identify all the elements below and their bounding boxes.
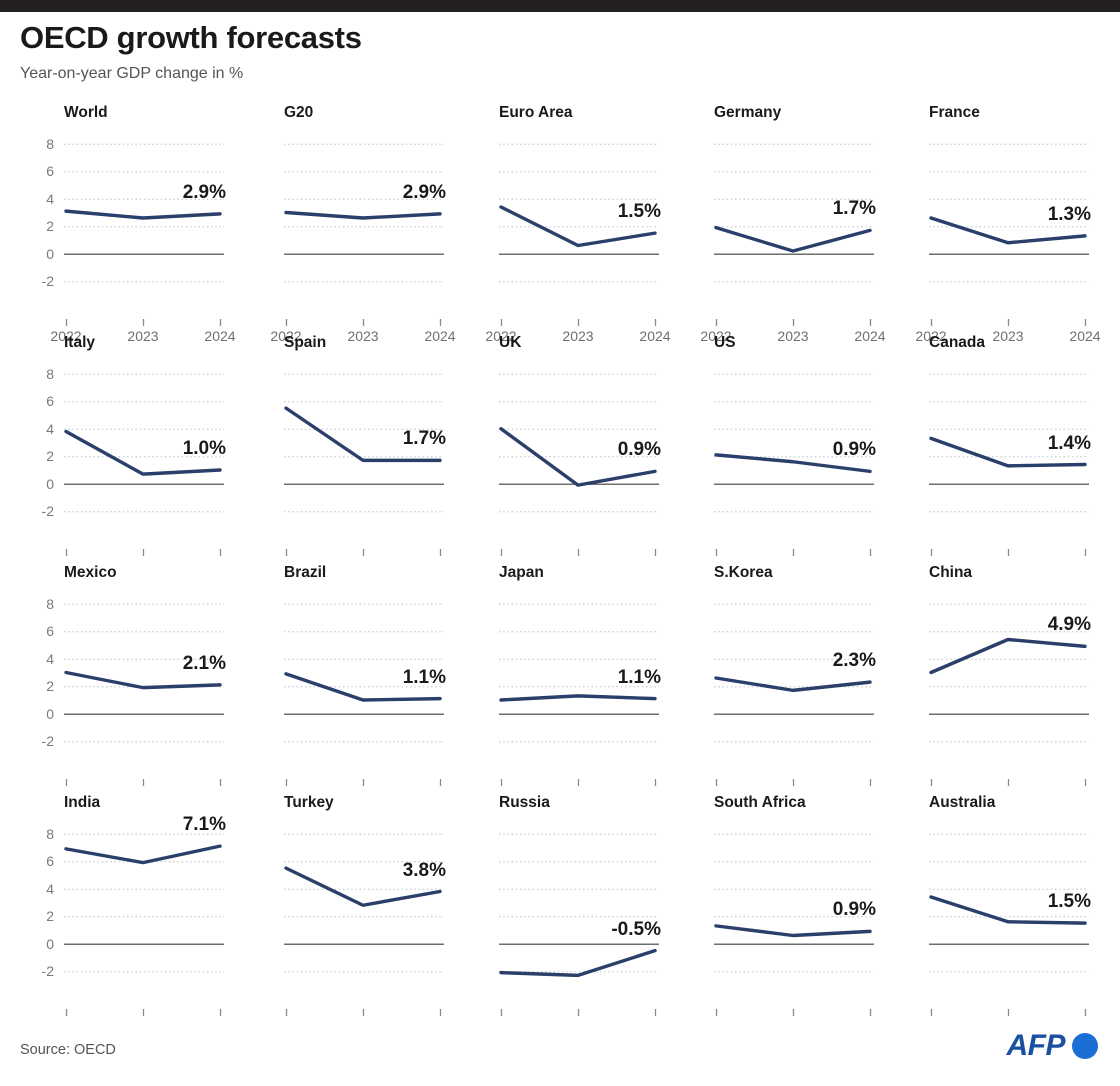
data-line bbox=[66, 673, 220, 688]
panel-plot bbox=[499, 130, 661, 329]
panel-value-label: 1.5% bbox=[1015, 892, 1091, 912]
panel-title: Spain bbox=[284, 334, 326, 352]
panel-title: Germany bbox=[714, 104, 781, 122]
y-axis-tick-label: 4 bbox=[28, 192, 54, 206]
afp-logo: AFP bbox=[1007, 1030, 1099, 1062]
chart-row: World2.9%86420-2202220232024G202.9%20222… bbox=[0, 104, 1120, 334]
data-line bbox=[66, 846, 220, 863]
panel-value-label: 0.9% bbox=[800, 900, 876, 920]
data-line bbox=[501, 696, 655, 700]
panel-value-label: 1.5% bbox=[585, 202, 661, 222]
panel-value-label: 1.1% bbox=[585, 668, 661, 688]
panel-plot bbox=[64, 130, 226, 329]
panel-plot bbox=[64, 820, 226, 1019]
y-axis-tick-label: 0 bbox=[28, 247, 54, 261]
panel-title: South Africa bbox=[714, 794, 806, 812]
panel-value-label: 2.1% bbox=[150, 654, 226, 674]
y-axis-tick-label: 0 bbox=[28, 477, 54, 491]
panel-title: UK bbox=[499, 334, 521, 352]
y-axis-tick-label: 6 bbox=[28, 164, 54, 178]
data-line bbox=[716, 926, 870, 936]
page-subtitle: Year-on-year GDP change in % bbox=[20, 64, 1100, 84]
afp-logo-dot bbox=[1072, 1033, 1098, 1059]
panel-title: World bbox=[64, 104, 108, 122]
y-axis-tick-label: 4 bbox=[28, 882, 54, 896]
panel-plot bbox=[284, 360, 446, 559]
header: OECD growth forecasts Year-on-year GDP c… bbox=[20, 20, 1100, 84]
chart-grid: World2.9%86420-2202220232024G202.9%20222… bbox=[0, 104, 1120, 1024]
panel-value-label: 2.9% bbox=[150, 183, 226, 203]
panel-value-label: -0.5% bbox=[585, 920, 661, 940]
panel-title: Russia bbox=[499, 794, 550, 812]
infographic-page: OECD growth forecasts Year-on-year GDP c… bbox=[0, 0, 1120, 1086]
data-line bbox=[66, 211, 220, 218]
top-band bbox=[0, 0, 1120, 12]
y-axis-tick-label: 8 bbox=[28, 367, 54, 381]
y-axis-tick-label: 4 bbox=[28, 422, 54, 436]
y-axis-tick-label: -2 bbox=[28, 964, 54, 978]
panel-value-label: 0.9% bbox=[585, 440, 661, 460]
chart-row: Mexico2.1%86420-2Brazil1.1%Japan1.1%S.Ko… bbox=[0, 564, 1120, 794]
y-axis-tick-label: 8 bbox=[28, 137, 54, 151]
panel-value-label: 1.7% bbox=[800, 199, 876, 219]
panel-plot bbox=[64, 360, 226, 559]
panel-plot bbox=[714, 590, 876, 789]
y-axis-tick-label: 2 bbox=[28, 679, 54, 693]
panel-title: S.Korea bbox=[714, 564, 773, 582]
panel-plot bbox=[929, 130, 1091, 329]
data-line bbox=[501, 951, 655, 976]
panel-value-label: 4.9% bbox=[1015, 615, 1091, 635]
y-axis-tick-label: 2 bbox=[28, 909, 54, 923]
panel-title: India bbox=[64, 794, 100, 812]
panel-title: US bbox=[714, 334, 736, 352]
panel-value-label: 1.3% bbox=[1015, 205, 1091, 225]
source-note: Source: OECD bbox=[20, 1042, 116, 1058]
data-line bbox=[716, 678, 870, 690]
y-axis-tick-label: -2 bbox=[28, 274, 54, 288]
panel-value-label: 7.1% bbox=[150, 815, 226, 835]
y-axis-tick-label: -2 bbox=[28, 734, 54, 748]
y-axis-tick-label: 6 bbox=[28, 624, 54, 638]
panel-value-label: 0.9% bbox=[800, 440, 876, 460]
panel-value-label: 1.0% bbox=[150, 439, 226, 459]
panel-title: China bbox=[929, 564, 972, 582]
y-axis-tick-label: 6 bbox=[28, 394, 54, 408]
y-axis-tick-label: 8 bbox=[28, 597, 54, 611]
panel-value-label: 2.3% bbox=[800, 651, 876, 671]
data-line bbox=[931, 640, 1085, 673]
panel-plot bbox=[284, 130, 446, 329]
y-axis-tick-label: 6 bbox=[28, 854, 54, 868]
panel-title: France bbox=[929, 104, 980, 122]
chart-row: Italy1.0%86420-2Spain1.7%UK0.9%US0.9%Can… bbox=[0, 334, 1120, 564]
data-line bbox=[286, 213, 440, 219]
data-line bbox=[716, 228, 870, 251]
panel-plot bbox=[284, 590, 446, 789]
panel-title: Australia bbox=[929, 794, 995, 812]
panel-title: G20 bbox=[284, 104, 313, 122]
y-axis-tick-label: -2 bbox=[28, 504, 54, 518]
panel-value-label: 2.9% bbox=[370, 183, 446, 203]
page-title: OECD growth forecasts bbox=[20, 20, 1100, 56]
panel-title: Canada bbox=[929, 334, 985, 352]
panel-plot bbox=[929, 820, 1091, 1019]
panel-value-label: 1.1% bbox=[370, 668, 446, 688]
panel-title: Turkey bbox=[284, 794, 334, 812]
panel-plot bbox=[714, 130, 876, 329]
panel-plot bbox=[499, 590, 661, 789]
panel-value-label: 1.7% bbox=[370, 429, 446, 449]
afp-logo-text: AFP bbox=[1007, 1030, 1066, 1062]
panel-value-label: 3.8% bbox=[370, 861, 446, 881]
panel-plot bbox=[64, 590, 226, 789]
y-axis-tick-label: 0 bbox=[28, 937, 54, 951]
panel-plot bbox=[284, 820, 446, 1019]
y-axis-tick-label: 4 bbox=[28, 652, 54, 666]
y-axis-tick-label: 2 bbox=[28, 219, 54, 233]
chart-row: India7.1%86420-2Turkey3.8%Russia-0.5%Sou… bbox=[0, 794, 1120, 1024]
y-axis-tick-label: 8 bbox=[28, 827, 54, 841]
y-axis-tick-label: 2 bbox=[28, 449, 54, 463]
panel-title: Mexico bbox=[64, 564, 117, 582]
panel-title: Italy bbox=[64, 334, 95, 352]
panel-plot bbox=[929, 360, 1091, 559]
panel-title: Euro Area bbox=[499, 104, 573, 122]
panel-title: Japan bbox=[499, 564, 544, 582]
panel-title: Brazil bbox=[284, 564, 326, 582]
panel-value-label: 1.4% bbox=[1015, 434, 1091, 454]
y-axis-tick-label: 0 bbox=[28, 707, 54, 721]
